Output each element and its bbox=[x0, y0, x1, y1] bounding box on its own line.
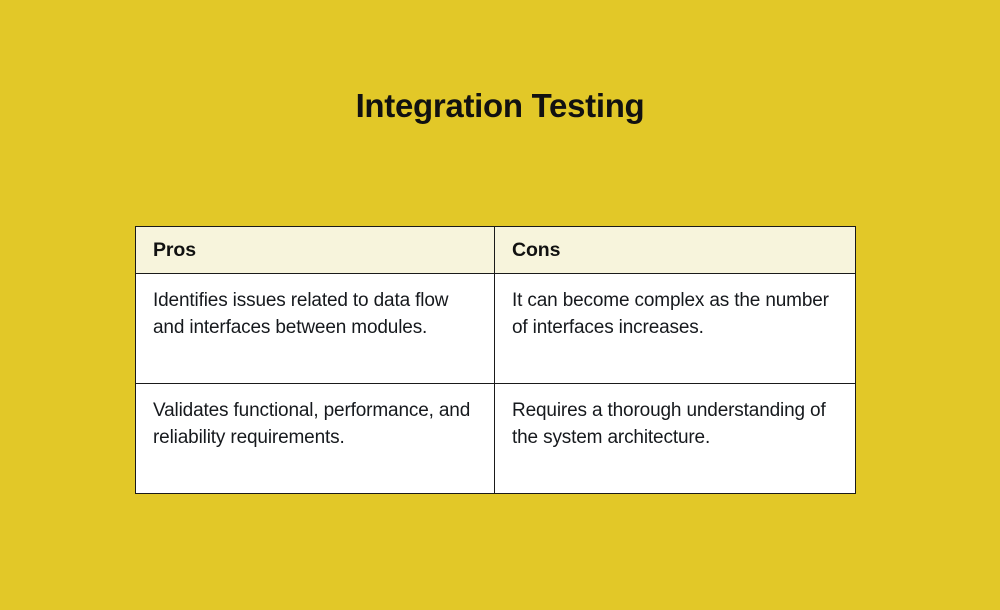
cell-pros-2: Validates functional, performance, and r… bbox=[136, 384, 495, 494]
slide-canvas: Integration Testing Pros Cons Identifies… bbox=[0, 0, 1000, 610]
table-header-row: Pros Cons bbox=[136, 227, 856, 274]
cell-text: Identifies issues related to data flow a… bbox=[153, 287, 477, 341]
cell-pros-1: Identifies issues related to data flow a… bbox=[136, 274, 495, 384]
table-row: Identifies issues related to data flow a… bbox=[136, 274, 856, 384]
pros-cons-table: Pros Cons Identifies issues related to d… bbox=[135, 226, 856, 494]
column-header-cons: Cons bbox=[495, 227, 856, 274]
cell-cons-2: Requires a thorough understanding of the… bbox=[495, 384, 856, 494]
cell-cons-1: It can become complex as the number of i… bbox=[495, 274, 856, 384]
page-title: Integration Testing bbox=[0, 84, 1000, 128]
pros-cons-table-container: Pros Cons Identifies issues related to d… bbox=[135, 226, 855, 494]
table-header: Pros Cons bbox=[136, 227, 856, 274]
table-row: Validates functional, performance, and r… bbox=[136, 384, 856, 494]
cell-text: Requires a thorough understanding of the… bbox=[512, 397, 838, 451]
table-body: Identifies issues related to data flow a… bbox=[136, 274, 856, 494]
cell-text: Validates functional, performance, and r… bbox=[153, 397, 477, 451]
cell-text: It can become complex as the number of i… bbox=[512, 287, 838, 341]
column-header-pros: Pros bbox=[136, 227, 495, 274]
